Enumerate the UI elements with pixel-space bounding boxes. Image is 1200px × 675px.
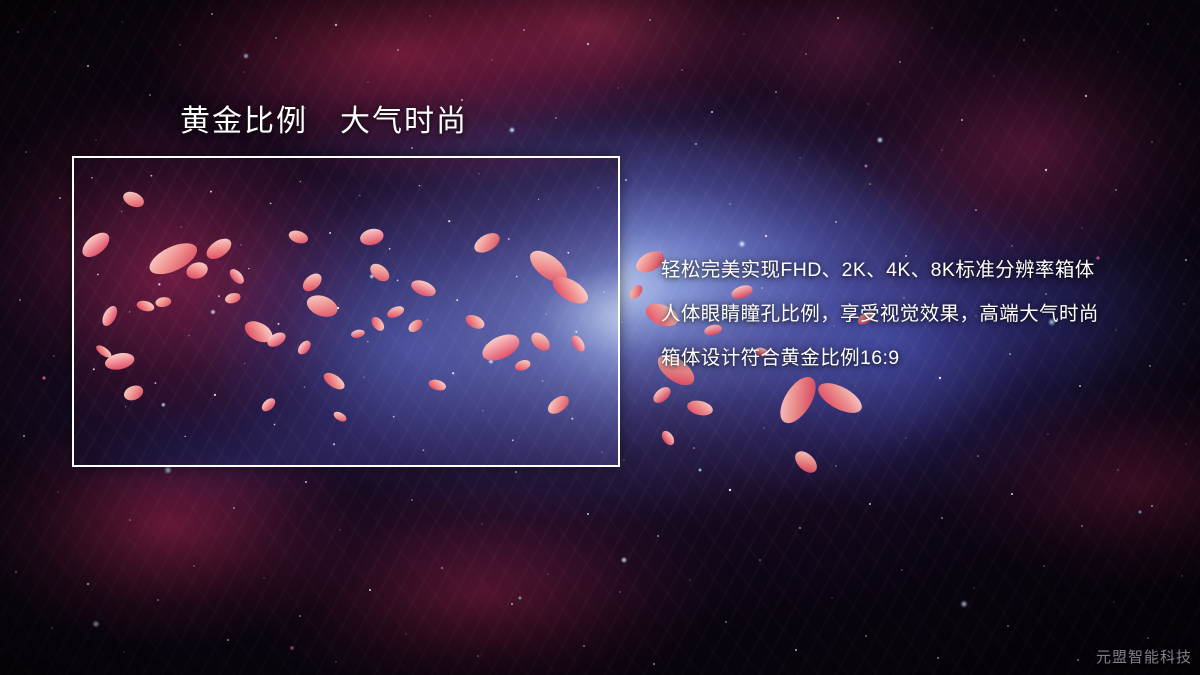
photo-nebula <box>74 158 618 465</box>
body-text-line-2: 人体眼睛瞳孔比例，享受视觉效果，高端大气时尚 <box>661 300 1171 344</box>
framed-photo <box>72 156 620 467</box>
body-text-line-1: 轻松完美实现FHD、2K、4K、8K标准分辨率箱体 <box>661 256 1171 300</box>
watermark-label: 元盟智能科技 <box>1096 646 1192 667</box>
photo-nebula-core <box>74 158 618 465</box>
slide-canvas: 黄金比例 大气时尚 轻松完美实现FHD、2K、4K、8K标准分辨率箱体 人体眼睛… <box>0 0 1200 675</box>
photo-inner <box>74 158 618 465</box>
photo-nebula-base <box>74 158 618 465</box>
body-text-block: 轻松完美实现FHD、2K、4K、8K标准分辨率箱体 人体眼睛瞳孔比例，享受视觉效… <box>661 256 1171 388</box>
photo-nebula-wisp <box>74 158 618 465</box>
page-title: 黄金比例 大气时尚 <box>180 102 468 141</box>
body-text-line-3: 箱体设计符合黄金比例16:9 <box>661 344 1171 388</box>
photo-nebula-red <box>74 158 618 465</box>
photo-nebula-blue <box>74 158 618 465</box>
